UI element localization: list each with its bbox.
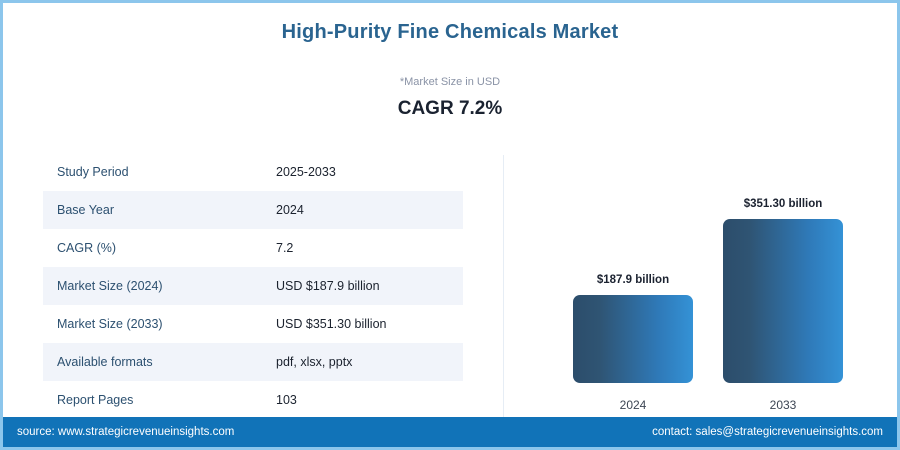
row-label: Study Period [43,153,262,191]
table-row: Market Size (2033) USD $351.30 billion [43,305,463,343]
market-size-note: *Market Size in USD [3,44,897,88]
row-value: 2025-2033 [262,153,463,191]
row-value: 2024 [262,191,463,229]
bar-category-label: 2033 [723,398,843,412]
bar-group-2024: $187.9 billion 2024 [573,153,693,418]
bar-value-label: $351.30 billion [723,198,843,210]
table-row: Study Period 2025-2033 [43,153,463,191]
row-value: USD $187.9 billion [262,267,463,305]
row-value: 7.2 [262,229,463,267]
row-label: CAGR (%) [43,229,262,267]
row-label: Base Year [43,191,262,229]
table-row: Market Size (2024) USD $187.9 billion [43,267,463,305]
table-row: CAGR (%) 7.2 [43,229,463,267]
table-row: Base Year 2024 [43,191,463,229]
source-text: source: www.strategicrevenueinsights.com [17,426,234,438]
bar-category-label: 2024 [573,398,693,412]
market-infographic: High-Purity Fine Chemicals Market *Marke… [0,0,900,450]
page-title: High-Purity Fine Chemicals Market [3,3,897,44]
bar-group-2033: $351.30 billion 2033 [723,153,843,418]
row-label: Market Size (2024) [43,267,262,305]
row-value: pdf, xlsx, pptx [262,343,463,381]
row-label: Market Size (2033) [43,305,262,343]
cagr-headline: CAGR 7.2% [3,88,897,120]
row-value: 103 [262,381,463,419]
bar-2033 [723,219,843,383]
spec-table-panel: Study Period 2025-2033 Base Year 2024 CA… [3,153,503,418]
bar-value-label: $187.9 billion [573,274,693,286]
table-row: Report Pages 103 [43,381,463,419]
content-area: Study Period 2025-2033 Base Year 2024 CA… [3,153,897,418]
row-label: Available formats [43,343,262,381]
row-value: USD $351.30 billion [262,305,463,343]
row-label: Report Pages [43,381,262,419]
table-row: Available formats pdf, xlsx, pptx [43,343,463,381]
bar-chart: $187.9 billion 2024 $351.30 billion 2033 [503,153,897,418]
bar-2024 [573,295,693,383]
contact-text: contact: sales@strategicrevenueinsights.… [652,426,883,438]
footer-bar: source: www.strategicrevenueinsights.com… [3,417,897,447]
spec-table: Study Period 2025-2033 Base Year 2024 CA… [43,153,463,419]
